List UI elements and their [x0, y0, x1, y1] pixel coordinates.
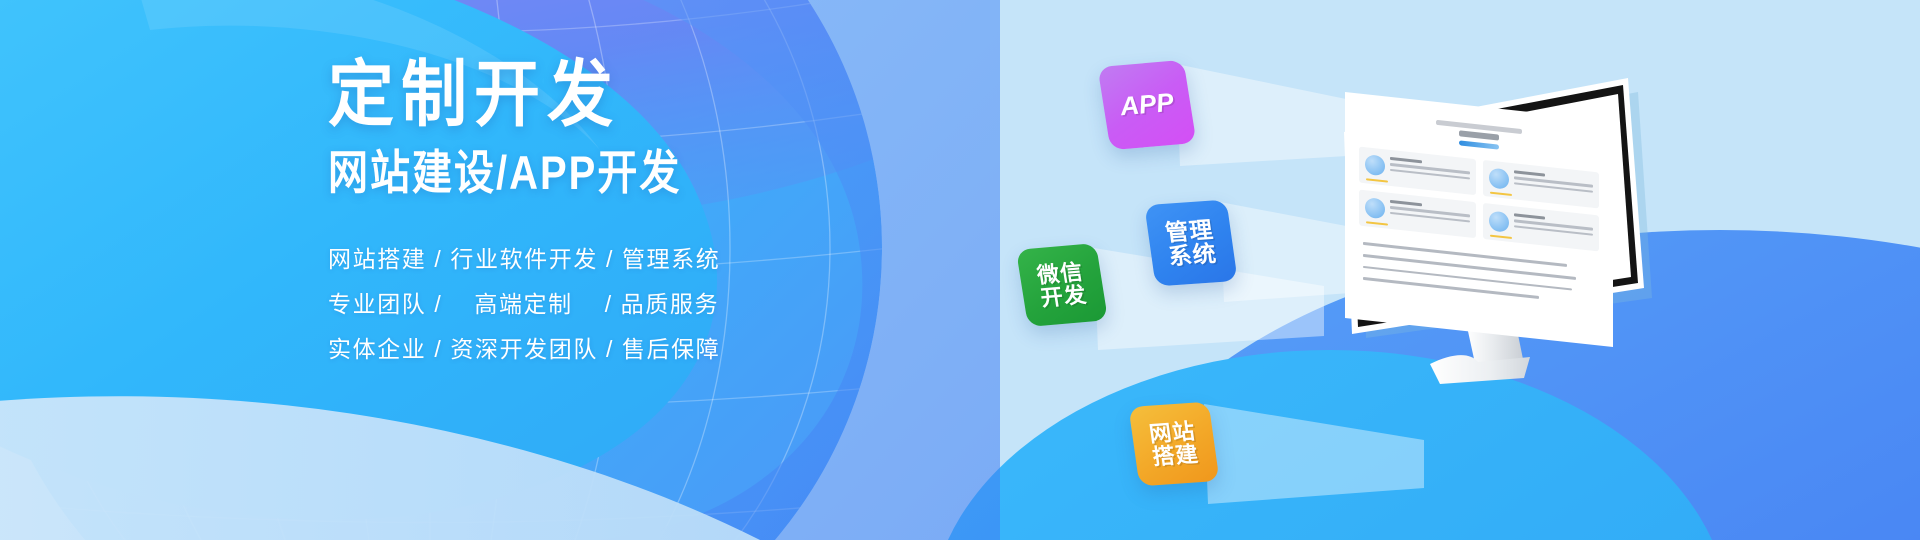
tag-card-management-system-label-line2: 系统	[1167, 241, 1218, 268]
mock-card	[1483, 160, 1600, 209]
mock-subheading	[1459, 130, 1499, 140]
banner-subtitle: 网站建设/APP开发	[328, 150, 948, 197]
feature-line-1: 网站搭建 / 行业软件开发 / 管理系统	[328, 248, 948, 271]
tag-card-wechat-development-label-line2: 开发	[1039, 283, 1089, 310]
mock-card-text	[1390, 200, 1470, 229]
tag-card-management-system[interactable]: 管理 系统	[1144, 200, 1237, 287]
tag-card-app[interactable]: APP	[1097, 60, 1196, 150]
feature-list: 网站搭建 / 行业软件开发 / 管理系统 专业团队 / 高端定制 / 品质服务 …	[328, 248, 948, 361]
mock-accent-bar	[1459, 140, 1499, 149]
mock-card-underline	[1366, 221, 1388, 225]
mock-card-underline	[1490, 192, 1512, 196]
tag-card-website-building-label-line2: 搭建	[1151, 442, 1200, 468]
mock-card-text	[1514, 213, 1594, 242]
mock-card	[1359, 147, 1476, 196]
promo-banner: 定制开发 网站建设/APP开发 网站搭建 / 行业软件开发 / 管理系统 专业团…	[0, 0, 1920, 540]
feature-line-3: 实体企业 / 资深开发团队 / 售后保障	[328, 338, 948, 361]
page-title: 定制开发	[328, 58, 948, 131]
tag-card-website-building[interactable]: 网站 搭建	[1128, 402, 1219, 487]
mock-card-icon	[1489, 210, 1509, 232]
mock-card-text	[1514, 170, 1594, 199]
tag-card-app-label: APP	[1118, 89, 1176, 121]
mock-card-icon	[1365, 154, 1385, 176]
screen-website-mockup	[1345, 92, 1613, 347]
mock-card-icon	[1365, 197, 1385, 219]
tag-card-wechat-development[interactable]: 微信 开发	[1016, 243, 1108, 327]
mock-card-underline	[1490, 235, 1512, 239]
feature-line-2: 专业团队 / 高端定制 / 品质服务	[328, 293, 948, 316]
banner-copy: 定制开发 网站建设/APP开发 网站搭建 / 行业软件开发 / 管理系统 专业团…	[328, 58, 948, 383]
mock-card-text	[1390, 157, 1470, 186]
mock-card-underline	[1366, 178, 1388, 182]
mock-card-icon	[1489, 167, 1509, 189]
